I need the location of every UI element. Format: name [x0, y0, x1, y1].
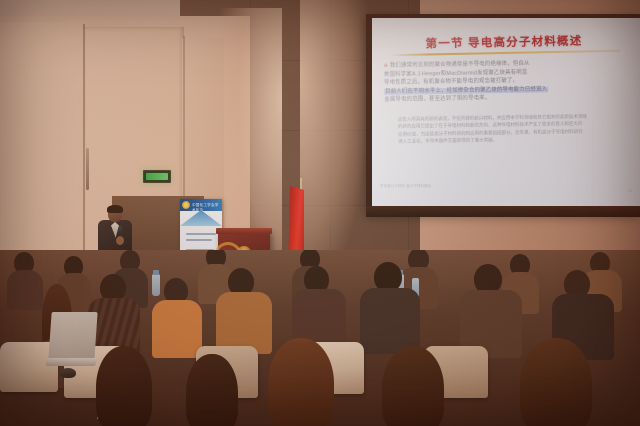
laptop-keyboard-base[interactable] — [45, 358, 96, 366]
presenter-hand — [116, 236, 124, 245]
slide-body-text: 金属导电的范围，甚至达到了铜的导电率。 — [384, 96, 490, 104]
slide-title: 第一节 导电高分子材料概述 — [386, 32, 622, 53]
slide-subparagraph: 这些人所具有的新的表现，不但开辟的新兴材料，并应用本学科领域和其它相关的高新技术… — [398, 112, 624, 145]
laptop-screen-lid — [48, 312, 97, 360]
emblem-icon — [182, 201, 190, 209]
bullet-marker: ※ — [384, 63, 388, 69]
banner-text-line — [186, 239, 212, 241]
door-handle[interactable] — [86, 148, 89, 190]
banner-header-text: 中国化工学会学术年会 — [192, 203, 222, 213]
slide-page-number: 25 — [628, 188, 632, 193]
slide-footer: 导电高分子材料 高分子材料概论 — [380, 184, 431, 189]
projection-screen-bottom-bar — [366, 206, 640, 217]
projection-screen: 第一节 导电高分子材料概述 ※ 我们通常所见到的聚合物通常是不导电的绝缘体，但自… — [372, 18, 640, 208]
banner-text-line — [186, 233, 216, 235]
lectern-top — [216, 228, 272, 234]
slide-body-text: 导电性质之后，有机聚合物不能导电的观念被打破了。 — [384, 78, 518, 86]
presenter-hair — [107, 205, 123, 213]
exit-sign-icon — [143, 170, 171, 183]
computer-mouse[interactable] — [60, 368, 76, 378]
bottle-cap — [153, 270, 159, 275]
audience-area — [0, 250, 640, 426]
water-bottle — [152, 274, 160, 296]
lecture-hall-photo: 第一节 导电高分子材料概述 ※ 我们通常所见到的聚合物通常是不导电的绝缘体，但自… — [0, 0, 640, 426]
slide-body: ※ 我们通常所见到的聚合物通常是不导电的绝缘体，但自从 美国科学家A.J.Hee… — [384, 58, 629, 105]
